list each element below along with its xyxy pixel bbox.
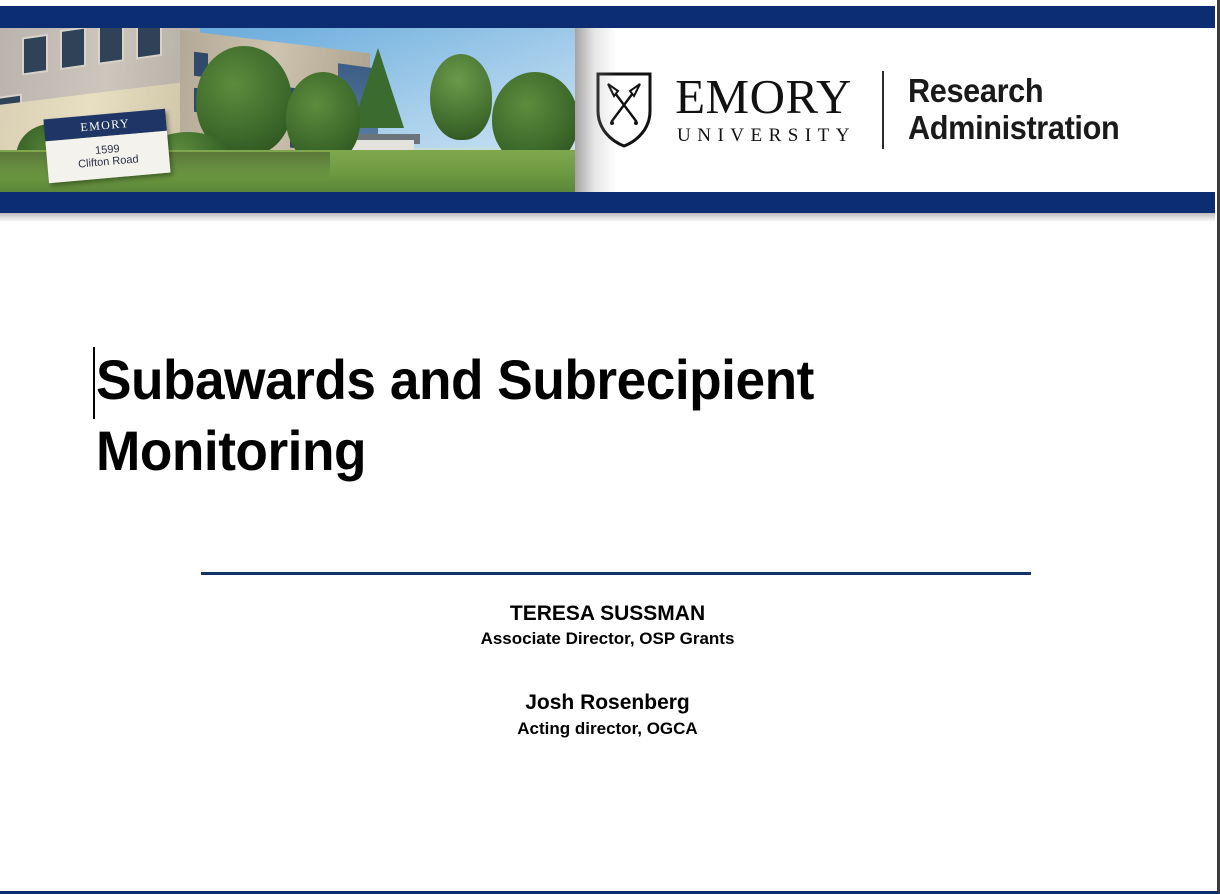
- emory-street-sign: EMORY 1599 Clifton Road: [43, 109, 170, 183]
- emory-wordmark-line1: EMORY: [675, 73, 852, 120]
- horizontal-divider-rule: [201, 572, 1031, 575]
- emory-shield-crossed-torches-icon: [595, 71, 653, 149]
- tree: [430, 54, 492, 140]
- title-block[interactable]: Subawards and Subrecipient Monitoring: [96, 345, 1096, 486]
- logo-panel: EMORY UNIVERSITY Research Administration: [575, 28, 1215, 192]
- unit-line1: Research: [908, 73, 1119, 110]
- emory-campus-photo: EMORY 1599 Clifton Road: [0, 28, 600, 192]
- emory-wordmark: EMORY UNIVERSITY: [671, 73, 856, 146]
- presenter-spacer: [0, 651, 1215, 689]
- presenter-role: Acting director, OGCA: [0, 718, 1215, 741]
- banner-bottom-navy-bar: [0, 192, 1215, 213]
- research-administration-label: Research Administration: [908, 73, 1119, 147]
- banner-bottom-shadow: [0, 213, 1215, 222]
- page-title: Subawards and Subrecipient Monitoring: [96, 345, 1046, 486]
- emory-logo-lockup: EMORY UNIVERSITY Research Administration: [595, 58, 1135, 162]
- logo-divider: [882, 71, 884, 149]
- emory-wordmark-line2: UNIVERSITY: [677, 125, 856, 147]
- top-navy-bar: [0, 6, 1215, 28]
- presentation-slide: EMORY 1599 Clifton Road: [0, 0, 1220, 894]
- presenter-role: Associate Director, OSP Grants: [0, 628, 1215, 651]
- text-cursor-caret: [93, 347, 95, 419]
- sign-emory-text: EMORY: [80, 115, 131, 134]
- presenter-list: TERESA SUSSMAN Associate Director, OSP G…: [0, 600, 1215, 741]
- presenter-name: Josh Rosenberg: [0, 689, 1215, 717]
- unit-line2: Administration: [908, 110, 1119, 147]
- sign-address-line2: Clifton Road: [78, 154, 139, 171]
- presenter-name: TERESA SUSSMAN: [0, 600, 1215, 628]
- header-banner: EMORY 1599 Clifton Road: [0, 28, 1215, 192]
